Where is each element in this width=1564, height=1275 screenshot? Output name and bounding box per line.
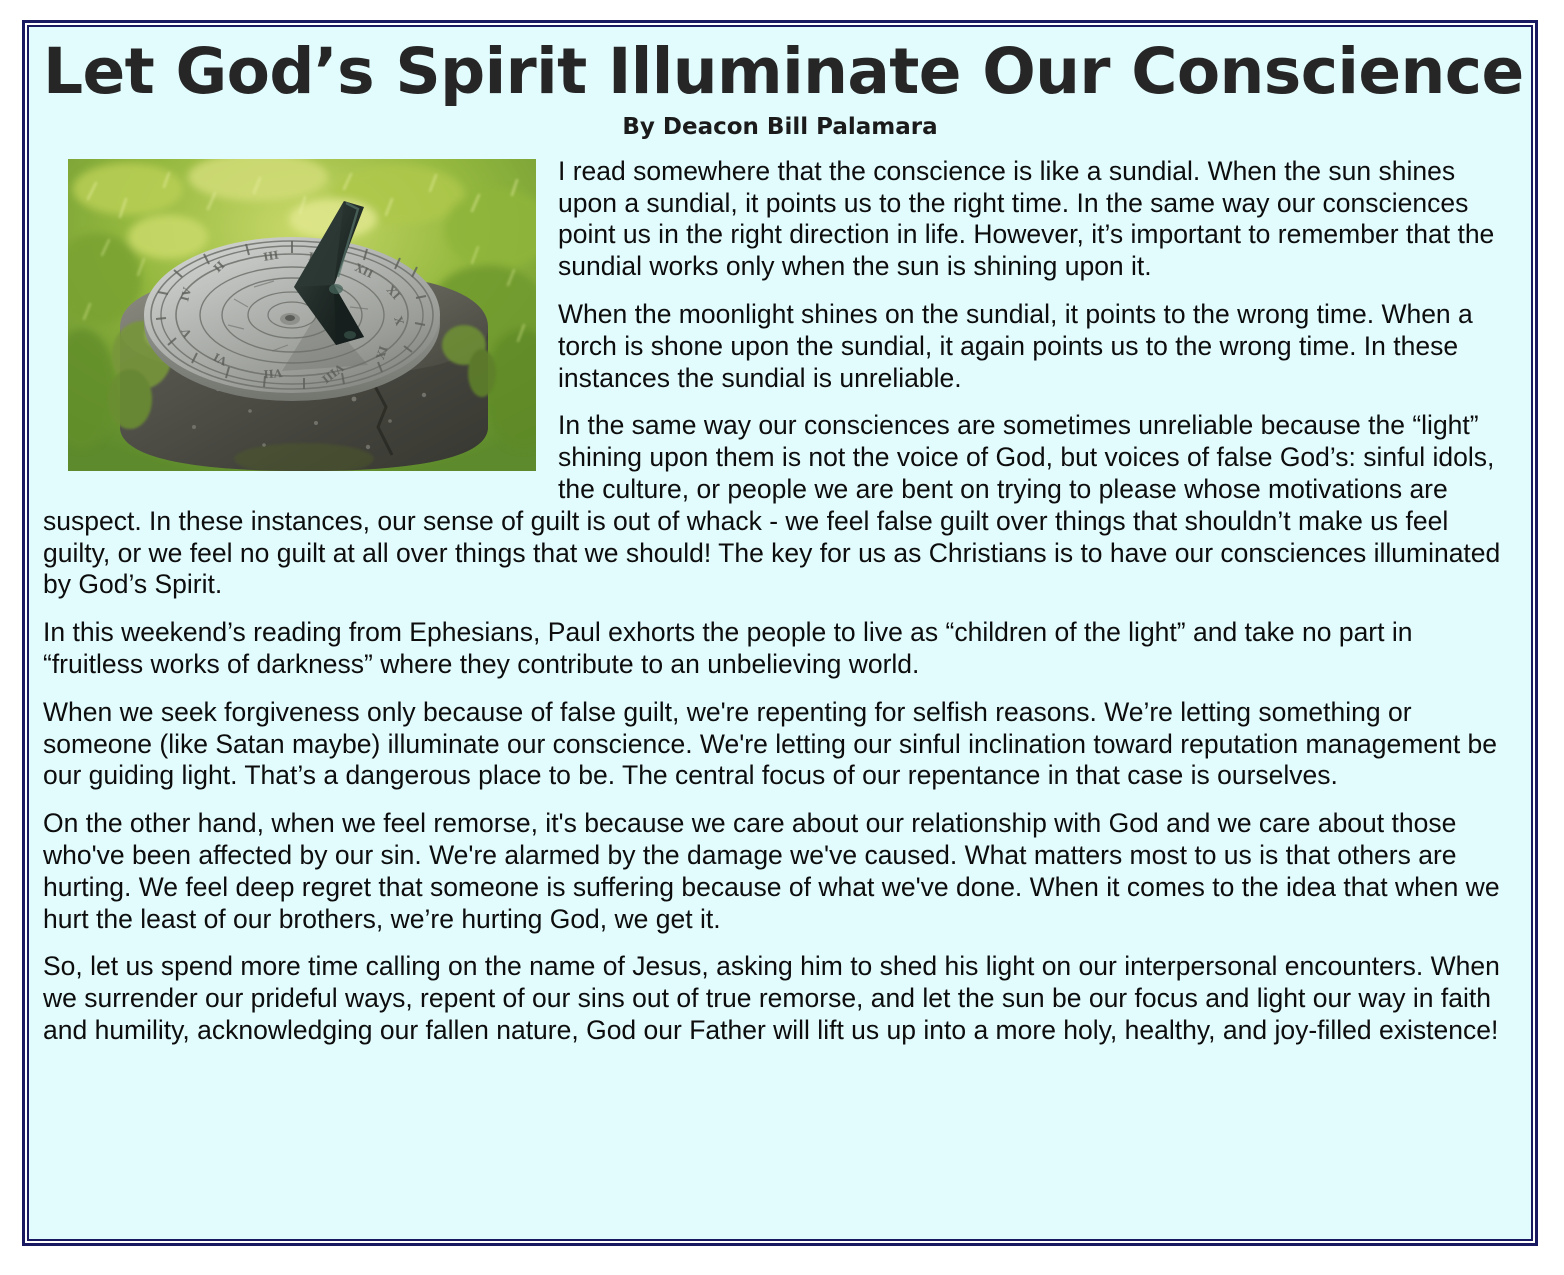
document-content: Let God’s Spirit Illuminate Our Conscien… [29,27,1531,1239]
byline: By Deacon Bill Palamara [43,115,1517,140]
paragraph: On the other hand, when we feel remorse,… [43,808,1517,935]
paragraph: When we seek forgiveness only because of… [43,697,1517,792]
paragraph: So, let us spend more time calling on th… [43,951,1517,1046]
sundial-photo: III I XII XI X IX VIII VII VI V IV II [68,159,536,471]
page-title: Let God’s Spirit Illuminate Our Conscien… [43,39,1517,105]
paragraph: In this weekend’s reading from Ephesians… [43,617,1517,681]
svg-text:III: III [262,248,279,263]
article-body: III I XII XI X IX VIII VII VI V IV II [43,156,1517,1047]
sundial-photo-graphic: III I XII XI X IX VIII VII VI V IV II [68,159,536,471]
document-border-frame: Let God’s Spirit Illuminate Our Conscien… [22,20,1538,1246]
document-border-frame-inner: Let God’s Spirit Illuminate Our Conscien… [27,25,1533,1241]
svg-text:VII: VII [263,366,284,380]
